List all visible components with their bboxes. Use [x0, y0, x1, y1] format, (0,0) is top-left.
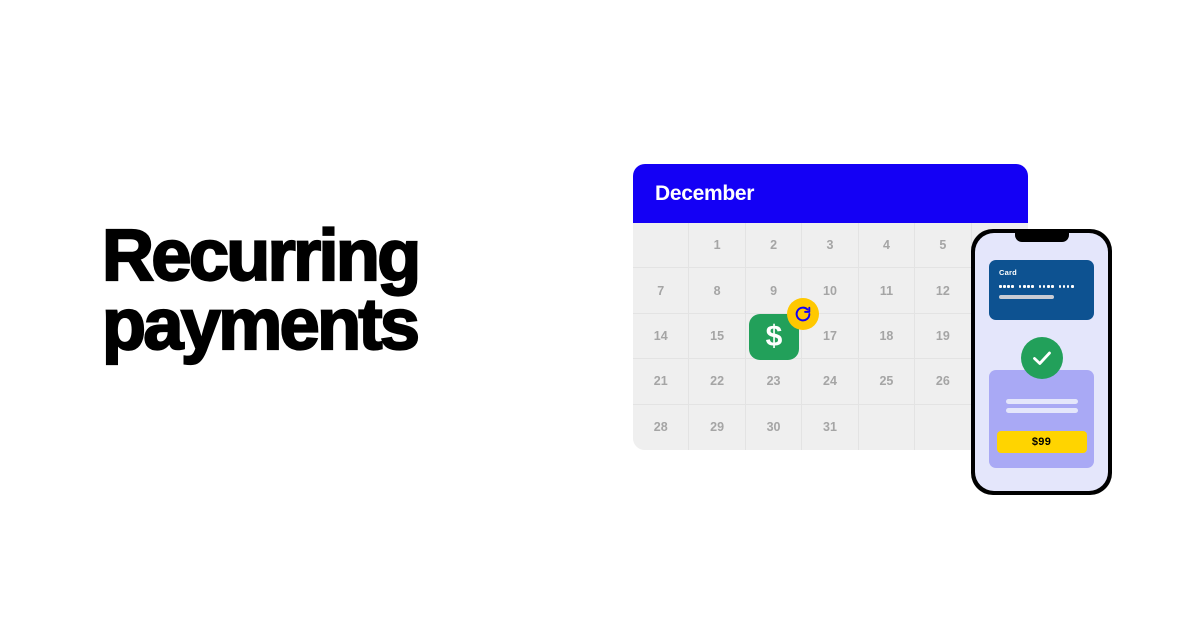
checkmark-glyph: [1030, 346, 1054, 370]
card-masked-number: [999, 285, 1084, 288]
calendar-day-25[interactable]: 25: [859, 359, 915, 404]
payment-card[interactable]: Card: [989, 260, 1094, 320]
calendar-day-3[interactable]: 3: [802, 223, 858, 268]
refresh-arrow-glyph: [794, 305, 812, 323]
card-dot-group: [1059, 285, 1074, 288]
card-dot-group: [1019, 285, 1034, 288]
calendar-day-19[interactable]: 19: [915, 314, 971, 359]
card-dot-group: [1039, 285, 1054, 288]
calendar-day-14[interactable]: 14: [633, 314, 689, 359]
calendar-day-30[interactable]: 30: [746, 405, 802, 450]
calendar-day-1[interactable]: 1: [689, 223, 745, 268]
calendar-day-22[interactable]: 22: [689, 359, 745, 404]
receipt-panel: [989, 370, 1094, 468]
calendar-day-29[interactable]: 29: [689, 405, 745, 450]
card-name-placeholder-bar: [999, 295, 1054, 299]
phone-mockup: Card $99: [971, 229, 1112, 495]
calendar-day-5[interactable]: 5: [915, 223, 971, 268]
calendar-day-2[interactable]: 2: [746, 223, 802, 268]
calendar-day-7[interactable]: 7: [633, 268, 689, 313]
phone-screen: Card $99: [975, 233, 1108, 491]
receipt-placeholder-lines: [1006, 399, 1078, 413]
calendar-day-15[interactable]: 15: [689, 314, 745, 359]
card-label: Card: [999, 268, 1084, 277]
calendar-day-24[interactable]: 24: [802, 359, 858, 404]
illustration-canvas: Recurring payments December 123457891011…: [0, 0, 1200, 630]
calendar-day-4[interactable]: 4: [859, 223, 915, 268]
phone-notch: [1015, 233, 1069, 242]
calendar-day-11[interactable]: 11: [859, 268, 915, 313]
calendar-day-28[interactable]: 28: [633, 405, 689, 450]
calendar-day-31[interactable]: 31: [802, 405, 858, 450]
refresh-circular-arrow-icon[interactable]: [787, 298, 819, 330]
calendar-header: December: [633, 164, 1028, 223]
calendar-cell-empty: [859, 405, 915, 450]
calendar-day-8[interactable]: 8: [689, 268, 745, 313]
page-title: Recurring payments: [102, 222, 572, 360]
page-title-line-2: payments: [102, 291, 572, 360]
calendar-grid: 1234578910111214151718192122232425262829…: [633, 223, 1028, 450]
receipt-line: [1006, 408, 1078, 413]
receipt-line: [1006, 399, 1078, 404]
page-title-line-1: Recurring: [102, 222, 572, 291]
dollar-sign-icon: $: [766, 322, 783, 352]
pay-amount-button[interactable]: $99: [997, 431, 1087, 453]
calendar-day-26[interactable]: 26: [915, 359, 971, 404]
calendar-day-12[interactable]: 12: [915, 268, 971, 313]
calendar-day-18[interactable]: 18: [859, 314, 915, 359]
calendar-widget: December 1234578910111214151718192122232…: [633, 164, 1028, 450]
calendar-cell-empty: [633, 223, 689, 268]
calendar-day-21[interactable]: 21: [633, 359, 689, 404]
calendar-month-label: December: [655, 182, 754, 206]
card-dot-group: [999, 285, 1014, 288]
check-circle-icon: [1021, 337, 1063, 379]
calendar-day-23[interactable]: 23: [746, 359, 802, 404]
calendar-cell-empty: [915, 405, 971, 450]
